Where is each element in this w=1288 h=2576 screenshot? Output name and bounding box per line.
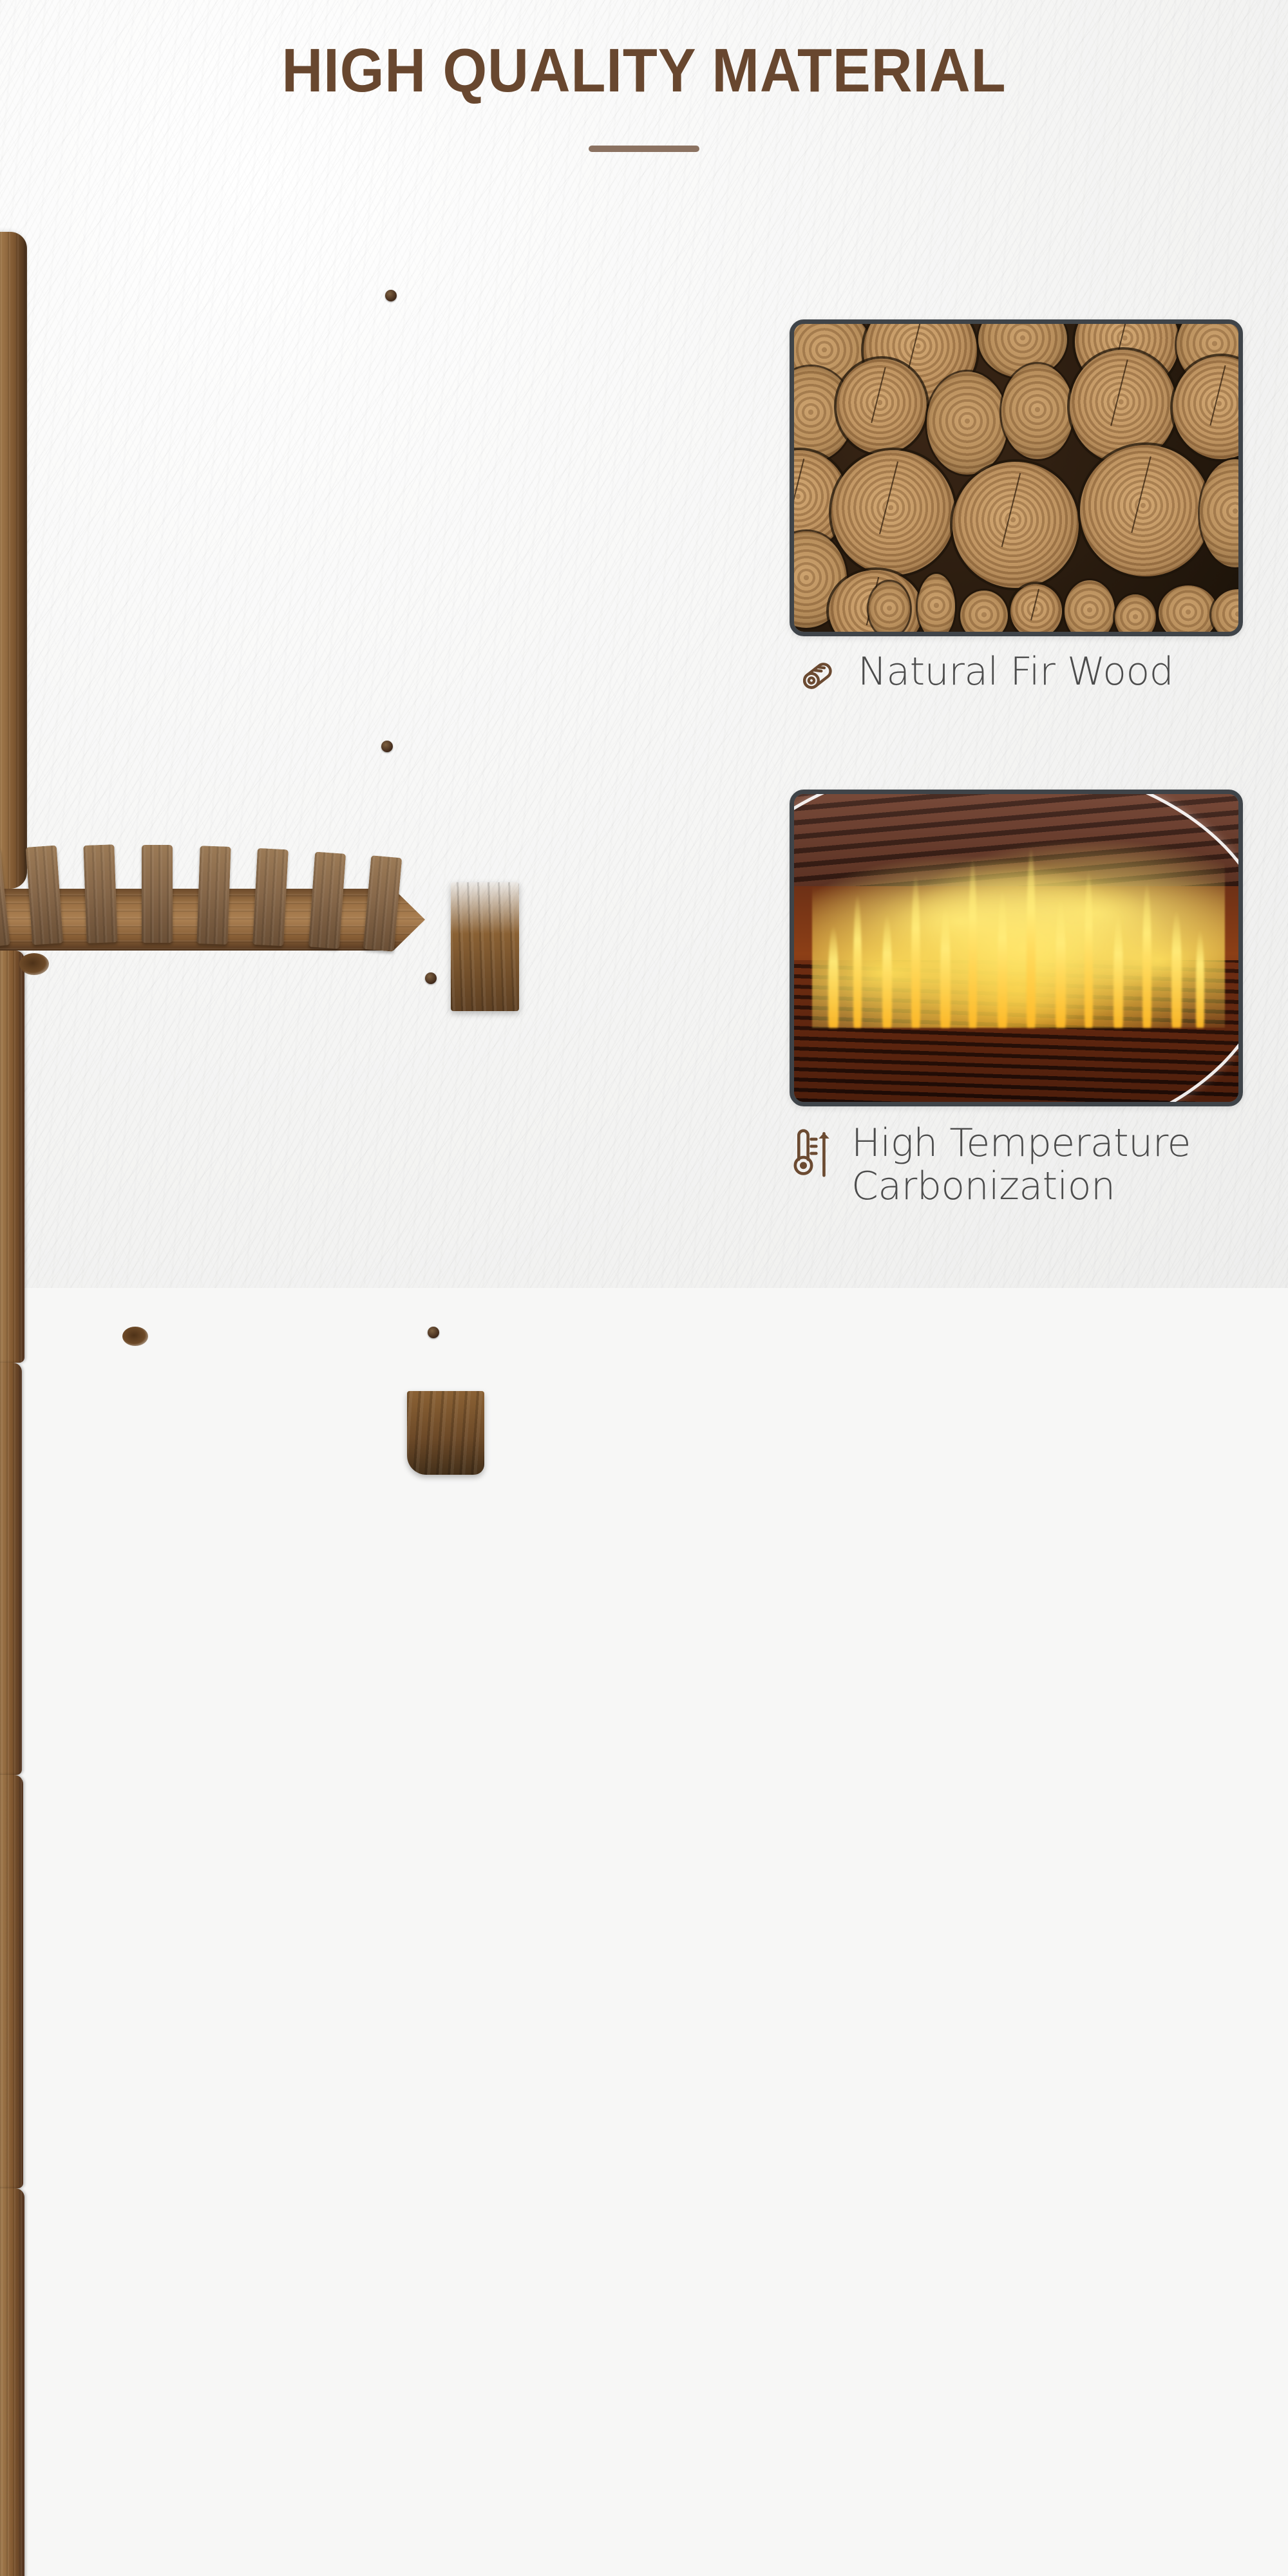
- bench-seat-slat: [0, 848, 10, 948]
- thermometer-up-icon: [782, 1126, 832, 1184]
- title-divider: [589, 146, 699, 152]
- feature-card-natural-fir-wood[interactable]: [790, 319, 1243, 636]
- bench-seat-slat: [363, 855, 402, 952]
- bench-seat-slat: [26, 846, 63, 945]
- log-icon: [796, 654, 838, 700]
- bench-screw: [425, 972, 437, 984]
- bench-backrest-slat: [0, 1363, 22, 1775]
- bench-seat-slat: [308, 852, 346, 949]
- bench-seat-slat: [83, 844, 117, 943]
- fire-highlight-arc: [790, 790, 1243, 1106]
- bench-wood-knot: [19, 953, 49, 975]
- bench-backrest-slat: [0, 951, 24, 1363]
- caption-natural-fir-wood: Natural Fir Wood: [796, 650, 1173, 700]
- header: HIGH QUALITY MATERIAL: [0, 0, 1288, 152]
- caption-high-temperature-carbonization: High Temperature Carbonization: [782, 1122, 1191, 1208]
- feature-label-high-temperature-carbonization: High Temperature Carbonization: [851, 1122, 1191, 1208]
- bench-seat-corner-block: [451, 882, 519, 1011]
- bench-backrest-slat: [0, 1775, 23, 2188]
- product-image-rocking-bench: [0, 232, 625, 1288]
- bench-seat-slat: [252, 848, 289, 946]
- bench-seat-slat: [142, 845, 173, 943]
- bench-screw: [385, 290, 397, 301]
- bench-seat-panel: [0, 837, 477, 953]
- flame-carbonization-image: [794, 794, 1238, 1102]
- bench-screw: [381, 741, 393, 752]
- feature-card-high-temperature-carbonization[interactable]: [790, 790, 1243, 1106]
- bench-backrest-slat: [0, 2188, 24, 2576]
- bench-back-post: [0, 232, 27, 889]
- logs-stack-image: [794, 324, 1238, 632]
- bench-rocker-foot: [407, 1391, 484, 1475]
- feature-label-natural-fir-wood: Natural Fir Wood: [858, 650, 1173, 694]
- bench-wood-knot: [122, 1327, 148, 1346]
- bench-screw: [428, 1327, 439, 1338]
- bench-seat-slat: [196, 846, 231, 945]
- page-title: HIGH QUALITY MATERIAL: [52, 0, 1236, 102]
